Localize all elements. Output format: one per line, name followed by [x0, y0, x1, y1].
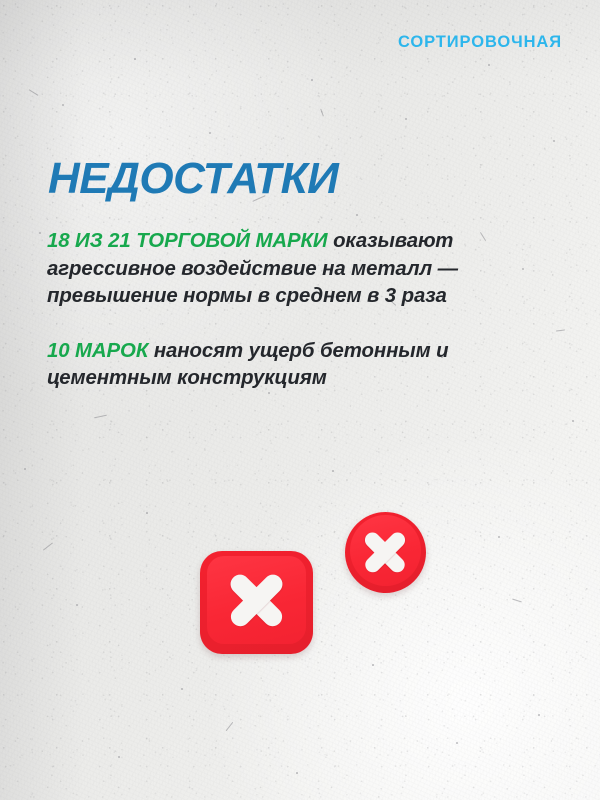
- body-copy: 18 из 21 торговой марки оказывают агресс…: [47, 208, 557, 413]
- cross-mark-circle: [352, 519, 418, 585]
- cross-mark-square: [212, 556, 301, 645]
- poster-content: СОРТИРОВОЧНАЯ НЕДОСТАТКИ 18 из 21 торгов…: [0, 0, 600, 800]
- poster-canvas: СОРТИРОВОЧНАЯ НЕДОСТАТКИ 18 из 21 торгов…: [0, 0, 600, 800]
- page-title: НЕДОСТАТКИ: [48, 157, 338, 201]
- paragraph-2: 10 марок наносят ущерб бетонным и цемент…: [47, 338, 557, 393]
- brand-label: СОРТИРОВОЧНАЯ: [398, 33, 562, 52]
- paragraph-1: 18 из 21 торговой марки оказывают агресс…: [47, 228, 557, 311]
- paragraph-1-highlight: 18 из 21 торговой марки: [47, 230, 328, 252]
- paragraph-2-highlight: 10 марок: [47, 340, 148, 362]
